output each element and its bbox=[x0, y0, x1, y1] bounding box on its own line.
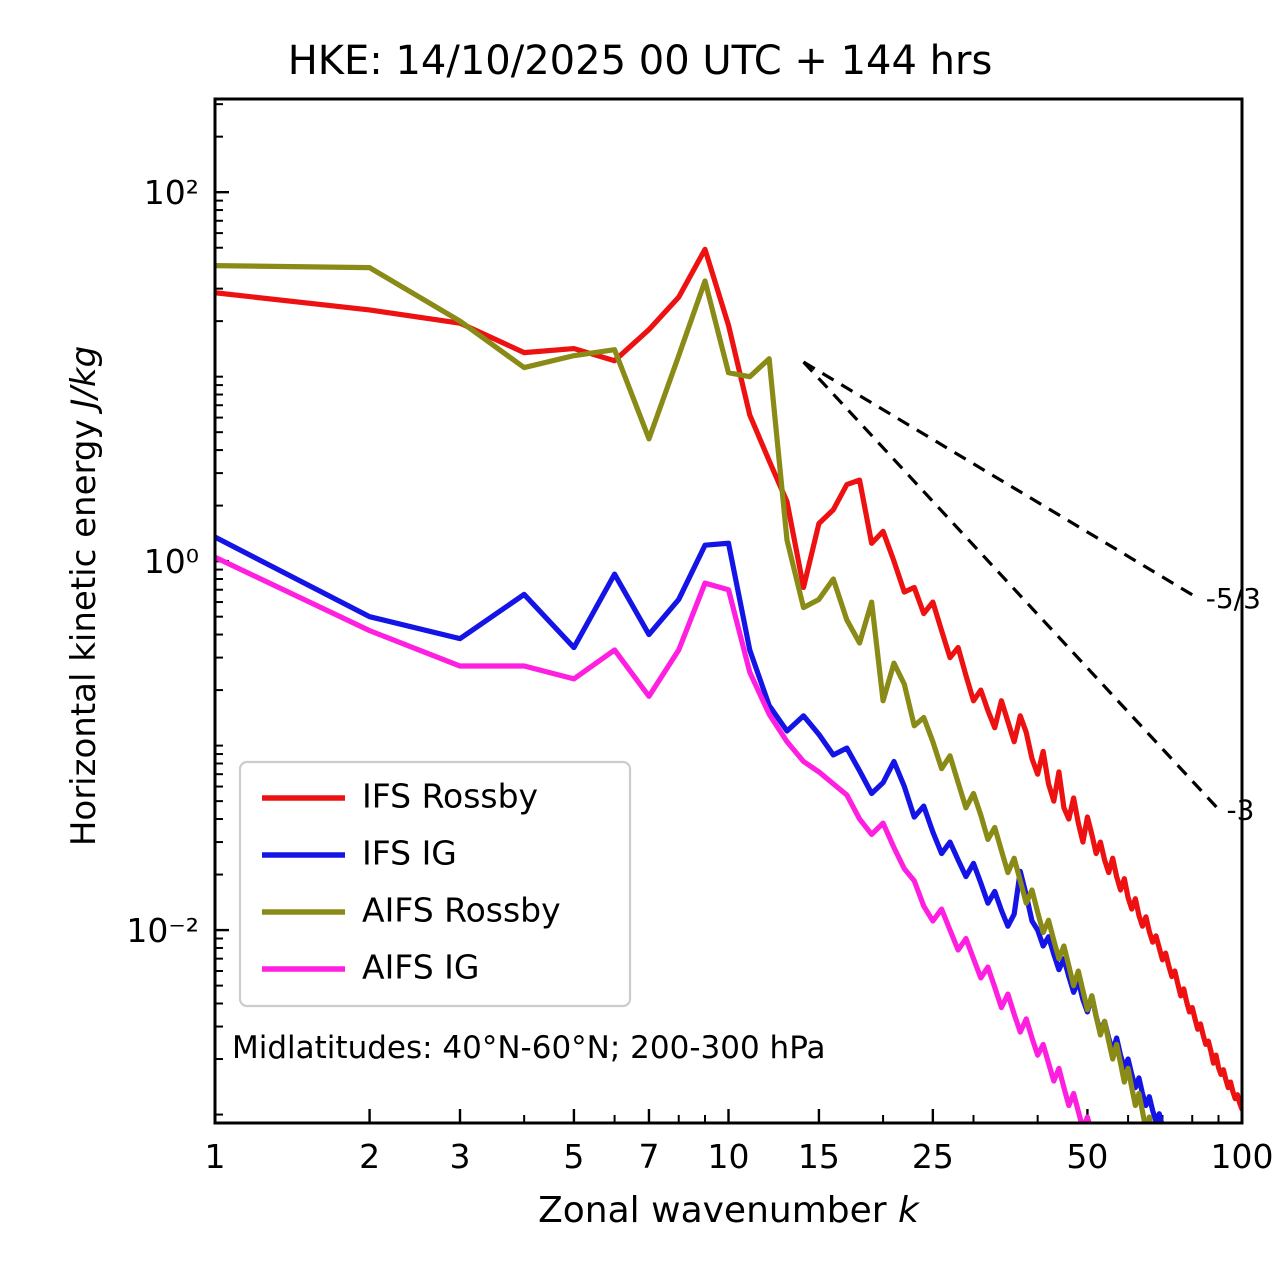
slope-line-53 bbox=[804, 362, 1198, 598]
x-tick-label: 50 bbox=[1066, 1137, 1108, 1176]
x-tick-label: 10 bbox=[708, 1137, 750, 1176]
x-tick-labels: 1235710152550100 bbox=[205, 1137, 1274, 1176]
x-tick-label: 2 bbox=[359, 1137, 380, 1176]
x-tick-label: 7 bbox=[638, 1137, 659, 1176]
figure-canvas: HKE: 14/10/2025 00 UTC + 144 hrs Horizon… bbox=[0, 0, 1280, 1288]
x-tick-label: 100 bbox=[1211, 1137, 1274, 1176]
chart-plot-area: 10²10⁰10⁻² 1235710152550100 -5/3-3 IFS R… bbox=[0, 0, 1280, 1288]
legend-label-ifs-rossby[interactable]: IFS Rossby bbox=[362, 777, 538, 816]
legend-label-aifs-ig[interactable]: AIFS IG bbox=[362, 948, 479, 987]
legend-label-aifs-rossby[interactable]: AIFS Rossby bbox=[362, 891, 561, 930]
region-annotation: Midlatitudes: 40°N-60°N; 200-300 hPa bbox=[232, 1030, 826, 1066]
slope-line-3 bbox=[804, 362, 1219, 809]
x-tick-label: 25 bbox=[912, 1137, 954, 1176]
x-tick-label: 15 bbox=[798, 1137, 840, 1176]
y-tick-labels: 10²10⁰10⁻² bbox=[126, 173, 199, 950]
y-tick-label: 10² bbox=[144, 173, 199, 212]
x-tick-label: 3 bbox=[450, 1137, 471, 1176]
x-tick-label: 5 bbox=[563, 1137, 584, 1176]
x-tick-label: 1 bbox=[205, 1137, 226, 1176]
slope-label-53: -5/3 bbox=[1206, 582, 1261, 615]
y-tick-label: 10⁰ bbox=[144, 542, 199, 581]
chart-legend[interactable]: IFS RossbyIFS IGAIFS RossbyAIFS IG bbox=[240, 762, 630, 1006]
y-tick-label: 10⁻² bbox=[126, 911, 199, 950]
slope-label-3: -3 bbox=[1227, 793, 1255, 826]
legend-label-ifs-ig[interactable]: IFS IG bbox=[362, 834, 457, 873]
